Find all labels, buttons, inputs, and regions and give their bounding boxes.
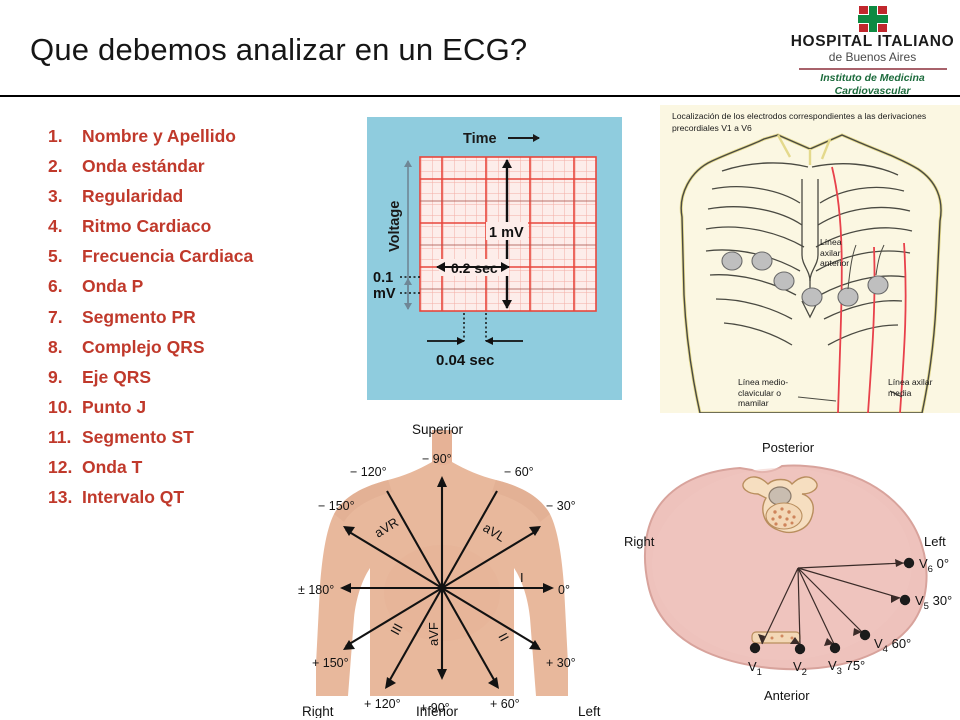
ecg-1mv-label: 1 mV: [489, 225, 524, 241]
logo-institute-line1: Instituto de Medicina: [790, 72, 955, 85]
list-item-label: Frecuencia Cardiaca: [82, 248, 253, 266]
xsec-dot-v6: [904, 558, 914, 568]
list-item-label: Nombre y Apellido: [82, 128, 236, 146]
list-item-number: 11.: [48, 429, 82, 447]
label-mid-axillary-line: Línea axilar media: [888, 377, 932, 398]
list-item-label: Onda P: [82, 278, 143, 296]
electrode-placement-figure: Localización de los electrodos correspon…: [660, 105, 960, 413]
orientation-left: Left: [578, 704, 601, 718]
axis-angle-0: 0°: [558, 583, 570, 597]
axis-lead-i: I: [520, 570, 524, 585]
ecg-01mv-label-line2: mV: [373, 286, 396, 302]
electrode-v5: [838, 288, 858, 306]
axis-angle-plus30: + 30°: [546, 656, 576, 670]
axis-angle-minus90: − 90°: [422, 452, 452, 466]
axis-lead-avf: aVF: [426, 622, 441, 646]
axis-angle-plus60: + 60°: [490, 697, 520, 711]
list-item-label: Onda estándar: [82, 158, 205, 176]
axis-angle-minus30: − 30°: [546, 499, 576, 513]
list-item-number: 6.: [48, 278, 82, 296]
list-item: 3. Regularidad: [48, 188, 348, 206]
xsec-dot-v2: [795, 644, 805, 654]
ecg-voltage-label: Voltage: [387, 201, 403, 252]
list-item-number: 10.: [48, 399, 82, 417]
list-item-number: 9.: [48, 369, 82, 387]
ecg-grid-figure: Time Voltage 1 mV 0.2 sec 0.1: [367, 117, 622, 400]
ecg-time-label: Time: [463, 131, 497, 147]
list-item-number: 7.: [48, 309, 82, 327]
hexaxial-axis-svg: − 90° − 120° − 60° − 150° − 30° ± 180° 0…: [292, 418, 622, 718]
list-item-label: Eje QRS: [82, 369, 151, 387]
thorax-cross-section-figure: V6 0° V5 30° V4 60° V3 75° V2 V1 Posteri…: [622, 432, 960, 718]
thorax-cross-section-svg: V6 0° V5 30° V4 60° V3 75° V2 V1 Posteri…: [622, 432, 960, 718]
list-item: 10. Punto J: [48, 399, 348, 417]
orientation-superior: Superior: [412, 422, 464, 437]
list-item-number: 1.: [48, 128, 82, 146]
electrode-v4: [802, 288, 822, 306]
list-item-number: 8.: [48, 339, 82, 357]
electrode-placement-svg: [660, 105, 960, 413]
list-item-number: 2.: [48, 158, 82, 176]
list-item-label: Punto J: [82, 399, 146, 417]
ecg-02sec-label: 0.2 sec: [451, 260, 498, 276]
list-item-number: 12.: [48, 459, 82, 477]
list-item-label: Segmento ST: [82, 429, 194, 447]
xsec-label-v3: V3 75°: [828, 658, 865, 677]
axis-angle-minus120: − 120°: [350, 465, 387, 479]
italian-cross-icon: [858, 6, 888, 32]
orientation-right: Right: [302, 704, 334, 718]
xsec-orientation-right: Right: [624, 534, 655, 549]
hospital-logo: HOSPITAL ITALIANO de Buenos Aires Instit…: [790, 6, 955, 88]
xsec-dot-v5: [900, 595, 910, 605]
xsec-orientation-left: Left: [924, 534, 946, 549]
list-item-label: Complejo QRS: [82, 339, 205, 357]
list-item: 6. Onda P: [48, 278, 348, 296]
list-item-label: Intervalo QT: [82, 489, 184, 507]
xsec-dot-v4: [860, 630, 870, 640]
axis-angle-minus150: − 150°: [318, 499, 355, 513]
hexaxial-axis-figure: − 90° − 120° − 60° − 150° − 30° ± 180° 0…: [292, 418, 622, 718]
list-item-label: Segmento PR: [82, 309, 196, 327]
list-item-number: 3.: [48, 188, 82, 206]
xsec-dot-v3: [830, 643, 840, 653]
electrode-v6: [868, 276, 888, 294]
xsec-orientation-anterior: Anterior: [764, 688, 810, 703]
xsec-label-v4: V4 60°: [874, 636, 911, 655]
list-item-label: Ritmo Cardiaco: [82, 218, 211, 236]
orientation-inferior: Inferior: [416, 704, 459, 718]
list-item: 7. Segmento PR: [48, 309, 348, 327]
axis-angle-plus120: + 120°: [364, 697, 401, 711]
page-title: Que debemos analizar en un ECG?: [30, 32, 527, 68]
list-item: 4. Ritmo Cardiaco: [48, 218, 348, 236]
ecg-004sec-label: 0.04 sec: [436, 352, 494, 369]
list-item: 5. Frecuencia Cardiaca: [48, 248, 348, 266]
logo-institute: Instituto de Medicina Cardiovascular: [790, 72, 955, 98]
electrode-v2: [752, 252, 772, 270]
list-item-label: Regularidad: [82, 188, 183, 206]
list-item: 8. Complejo QRS: [48, 339, 348, 357]
logo-institute-line2: Cardiovascular: [790, 85, 955, 98]
axis-angle-plus150: + 150°: [312, 656, 349, 670]
electrode-v3: [774, 272, 794, 290]
xsec-dot-v1: [750, 643, 760, 653]
list-item-number: 13.: [48, 489, 82, 507]
logo-hospital-name: HOSPITAL ITALIANO: [790, 34, 955, 50]
list-item-number: 5.: [48, 248, 82, 266]
logo-city: de Buenos Aires: [790, 50, 955, 65]
label-midclavicular-line: Línea medio- clavicular o mamilar: [738, 377, 788, 409]
list-item-label: Onda T: [82, 459, 142, 477]
ecg-grid-svg: Time Voltage 1 mV 0.2 sec 0.1: [367, 117, 622, 400]
slide-header: Que debemos analizar en un ECG? HOSPITAL…: [0, 0, 960, 96]
axis-angle-minus60: − 60°: [504, 465, 534, 479]
list-item: 9. Eje QRS: [48, 369, 348, 387]
label-anterior-axillary-line: Línea axilar anterior: [820, 237, 849, 269]
list-item: 2. Onda estándar: [48, 158, 348, 176]
logo-divider: [799, 68, 947, 70]
list-item: 1. Nombre y Apellido: [48, 128, 348, 146]
electrode-v1: [722, 252, 742, 270]
axis-angle-180: ± 180°: [298, 583, 334, 597]
xsec-orientation-posterior: Posterior: [762, 440, 815, 455]
ecg-01mv-label-line1: 0.1: [373, 270, 393, 286]
list-item-number: 4.: [48, 218, 82, 236]
